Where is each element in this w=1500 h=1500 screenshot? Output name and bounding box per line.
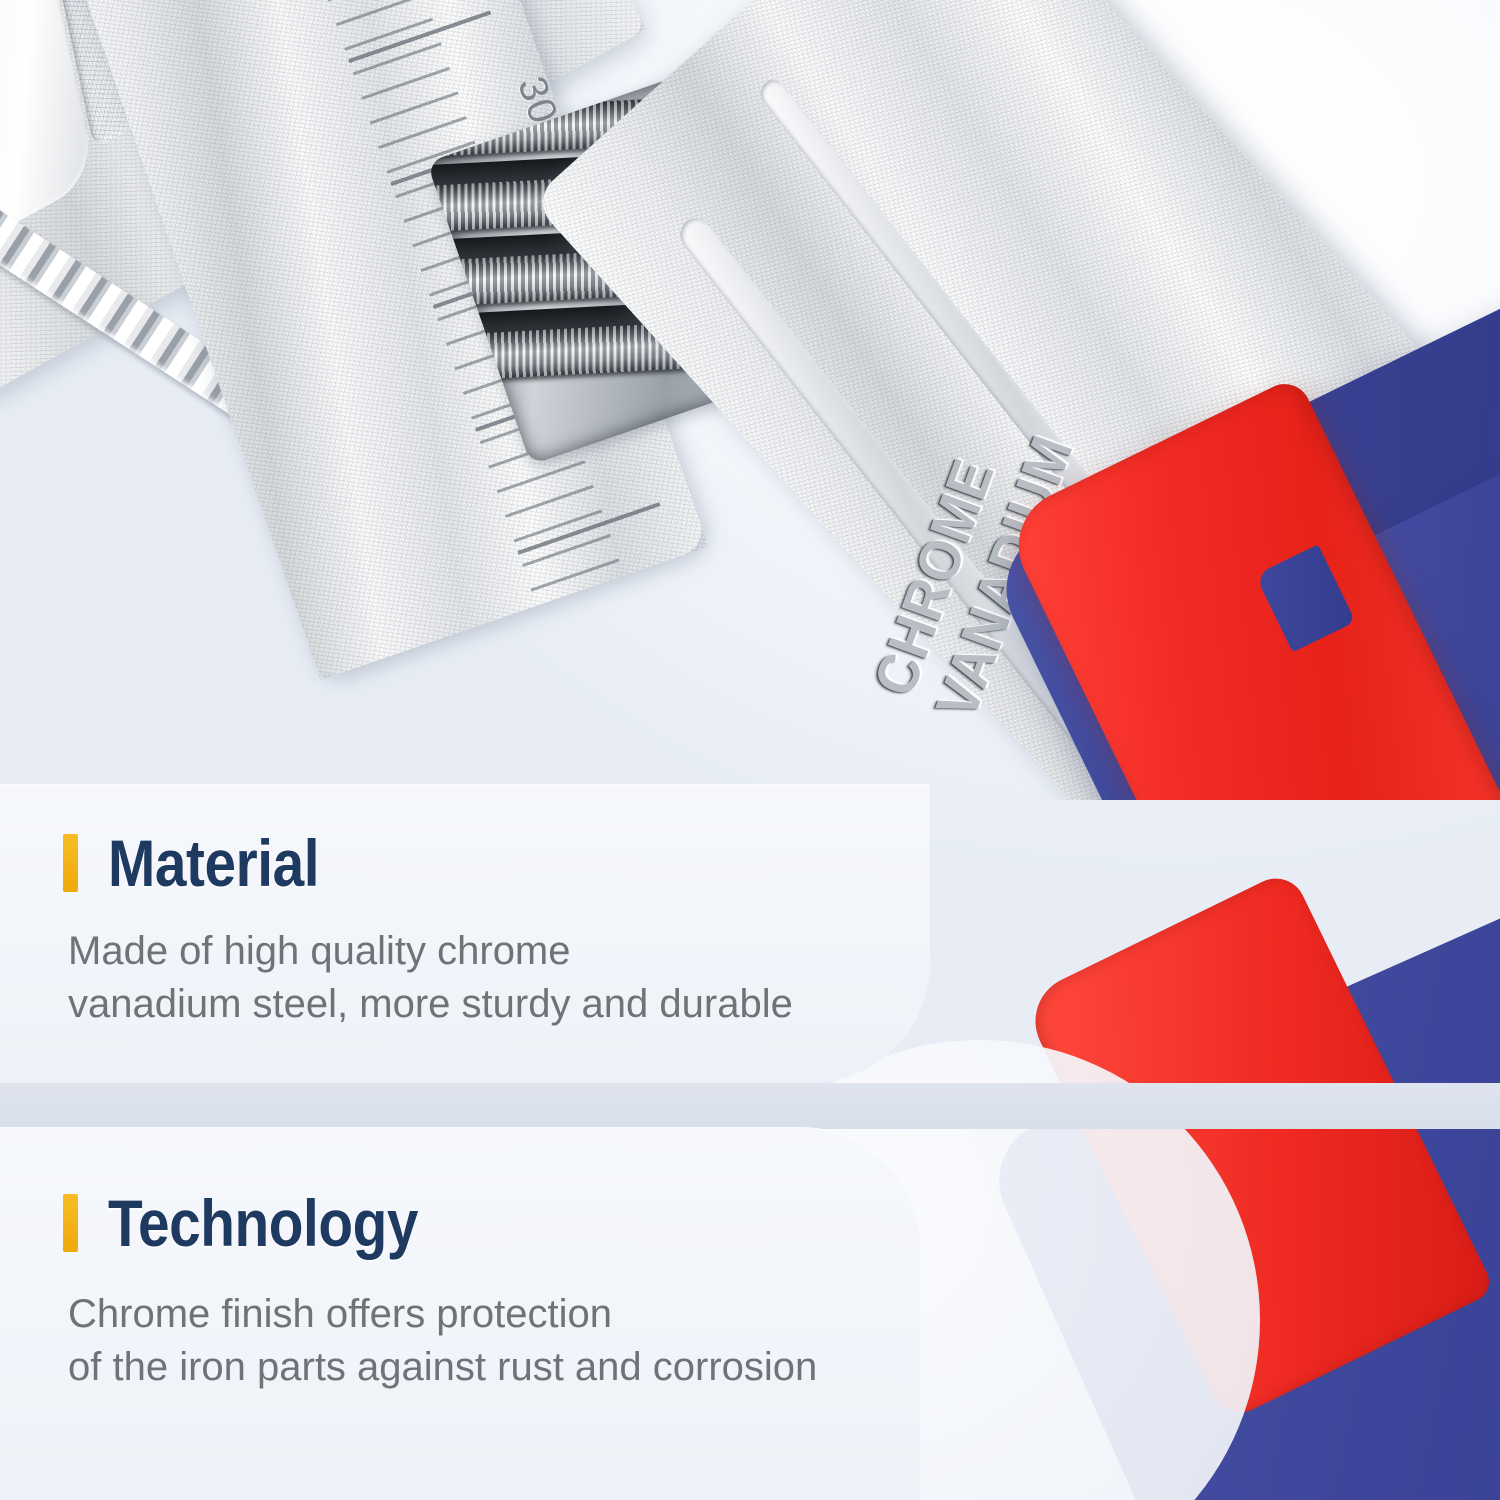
technology-heading-row: Technology [63, 1190, 468, 1256]
photo-bottom-fade [0, 650, 1500, 800]
technology-body-line-1: Chrome finish offers protection [68, 1288, 817, 1341]
material-body-line-1: Made of high quality chrome [68, 925, 793, 978]
material-body: Made of high quality chrome vanadium ste… [68, 925, 793, 1031]
technology-heading: Technology [108, 1190, 418, 1256]
material-heading-row: Material [63, 830, 353, 896]
technology-body: Chrome finish offers protection of the i… [68, 1288, 817, 1394]
section-divider [0, 1083, 1500, 1129]
section-technology: Technology Chrome finish offers protecti… [0, 1128, 920, 1500]
product-feature-graphic: 10 20 30 CHROME VANADIUM [0, 0, 1500, 1500]
accent-bar-icon [63, 1194, 78, 1252]
material-body-line-2: vanadium steel, more sturdy and durable [68, 978, 793, 1031]
technology-body-line-2: of the iron parts against rust and corro… [68, 1341, 817, 1394]
product-photo: 10 20 30 CHROME VANADIUM [0, 0, 1500, 800]
accent-bar-icon [63, 834, 78, 892]
section-material: Material Made of high quality chrome van… [0, 785, 930, 1083]
material-heading: Material [108, 830, 319, 896]
